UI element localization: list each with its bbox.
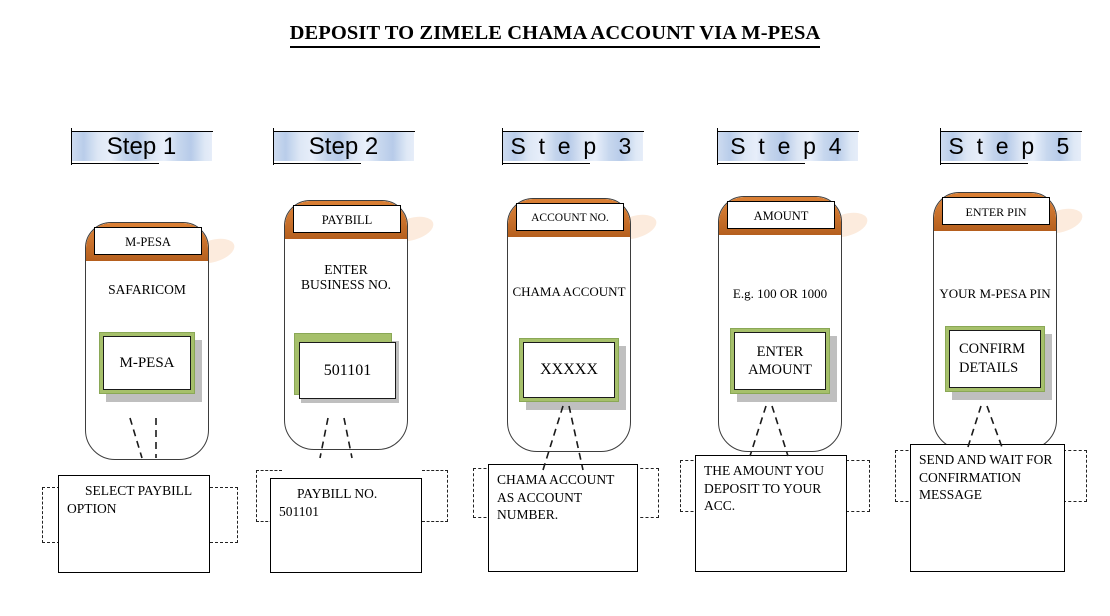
phone-screen-title: ACCOUNT NO. [516, 203, 624, 231]
button-label: 501101 [299, 342, 396, 399]
caption-text: THE AMOUNT YOU DEPOSIT TO YOUR ACC. [704, 462, 838, 515]
phone-action-button-5[interactable]: CONFIRMDETAILS [945, 326, 1045, 392]
step-header-5: S t e p 5 [935, 128, 1081, 164]
caption-text: SELECT PAYBILL OPTION [67, 482, 201, 517]
phone-screen-title: ENTER PIN [942, 197, 1050, 225]
step-header-label: S t e p 3 [502, 131, 643, 162]
caption-bracket-right [846, 460, 870, 512]
phone-mid-text: SAFARICOM [85, 282, 209, 297]
step-column-2: Step 2 PAYBILL ENTERBUSINESS NO. 501101 … [240, 0, 455, 616]
button-label: XXXXX [523, 342, 615, 398]
button-label: CONFIRMDETAILS [949, 330, 1041, 388]
phone-action-button-1[interactable]: M-PESA [99, 332, 195, 394]
caption-box-2: PAYBILL NO. 501101 [270, 478, 422, 573]
step-column-5: S t e p 5 ENTER PIN YOUR M-PESA PIN CONF… [885, 0, 1100, 616]
step-header-1: Step 1 [66, 128, 212, 164]
step-header-bottom-rule [940, 163, 1028, 164]
step-header-label: S t e p 4 [717, 131, 858, 162]
phone-mid-text: YOUR M-PESA PIN [933, 286, 1057, 301]
connector-lines-3 [455, 400, 670, 480]
phone-action-button-2[interactable]: 501101 [294, 333, 392, 395]
button-label: ENTERAMOUNT [734, 332, 826, 390]
phone-mid-text: E.g. 100 OR 1000 [718, 286, 842, 301]
caption-box-3: CHAMA ACCOUNT AS ACCOUNT NUMBER. [488, 464, 638, 572]
connector-lines-4 [670, 396, 885, 466]
caption-box-1: SELECT PAYBILL OPTION [58, 475, 210, 573]
phone-action-button-4[interactable]: ENTERAMOUNT [730, 328, 830, 394]
caption-bracket-right [210, 487, 238, 543]
step-header-bottom-rule [502, 163, 590, 164]
button-label: M-PESA [103, 336, 191, 390]
connector-lines-5 [885, 396, 1100, 466]
connector-lines-2 [240, 408, 455, 478]
step-header-2: Step 2 [268, 128, 414, 164]
connector-lines-1 [30, 400, 245, 480]
step-header-bottom-rule [717, 163, 805, 164]
phone-screen-title: M-PESA [94, 227, 202, 255]
step-header-4: S t e p 4 [712, 128, 858, 164]
caption-text: PAYBILL NO. 501101 [279, 485, 413, 520]
step-header-3: S t e p 3 [497, 128, 643, 164]
step-header-label: S t e p 5 [940, 131, 1081, 162]
phone-action-button-3[interactable]: XXXXX [519, 338, 619, 402]
step-column-3: S t e p 3 ACCOUNT NO. CHAMA ACCOUNT XXXX… [455, 0, 670, 616]
step-header-label: Step 1 [71, 131, 212, 162]
step-header-label: Step 2 [273, 131, 414, 162]
step-header-bottom-rule [71, 163, 159, 164]
step-column-4: S t e p 4 AMOUNT E.g. 100 OR 1000 ENTERA… [670, 0, 885, 616]
phone-screen-title: AMOUNT [727, 201, 835, 229]
step-header-bottom-rule [273, 163, 361, 164]
step-column-1: Step 1 M-PESA SAFARICOM M-PESA SELECT PA… [30, 0, 245, 616]
phone-mid-text: CHAMA ACCOUNT [507, 284, 631, 299]
caption-box-4: THE AMOUNT YOU DEPOSIT TO YOUR ACC. [695, 455, 847, 572]
phone-screen-title: PAYBILL [293, 205, 401, 233]
phone-mid-text: ENTERBUSINESS NO. [284, 262, 408, 292]
